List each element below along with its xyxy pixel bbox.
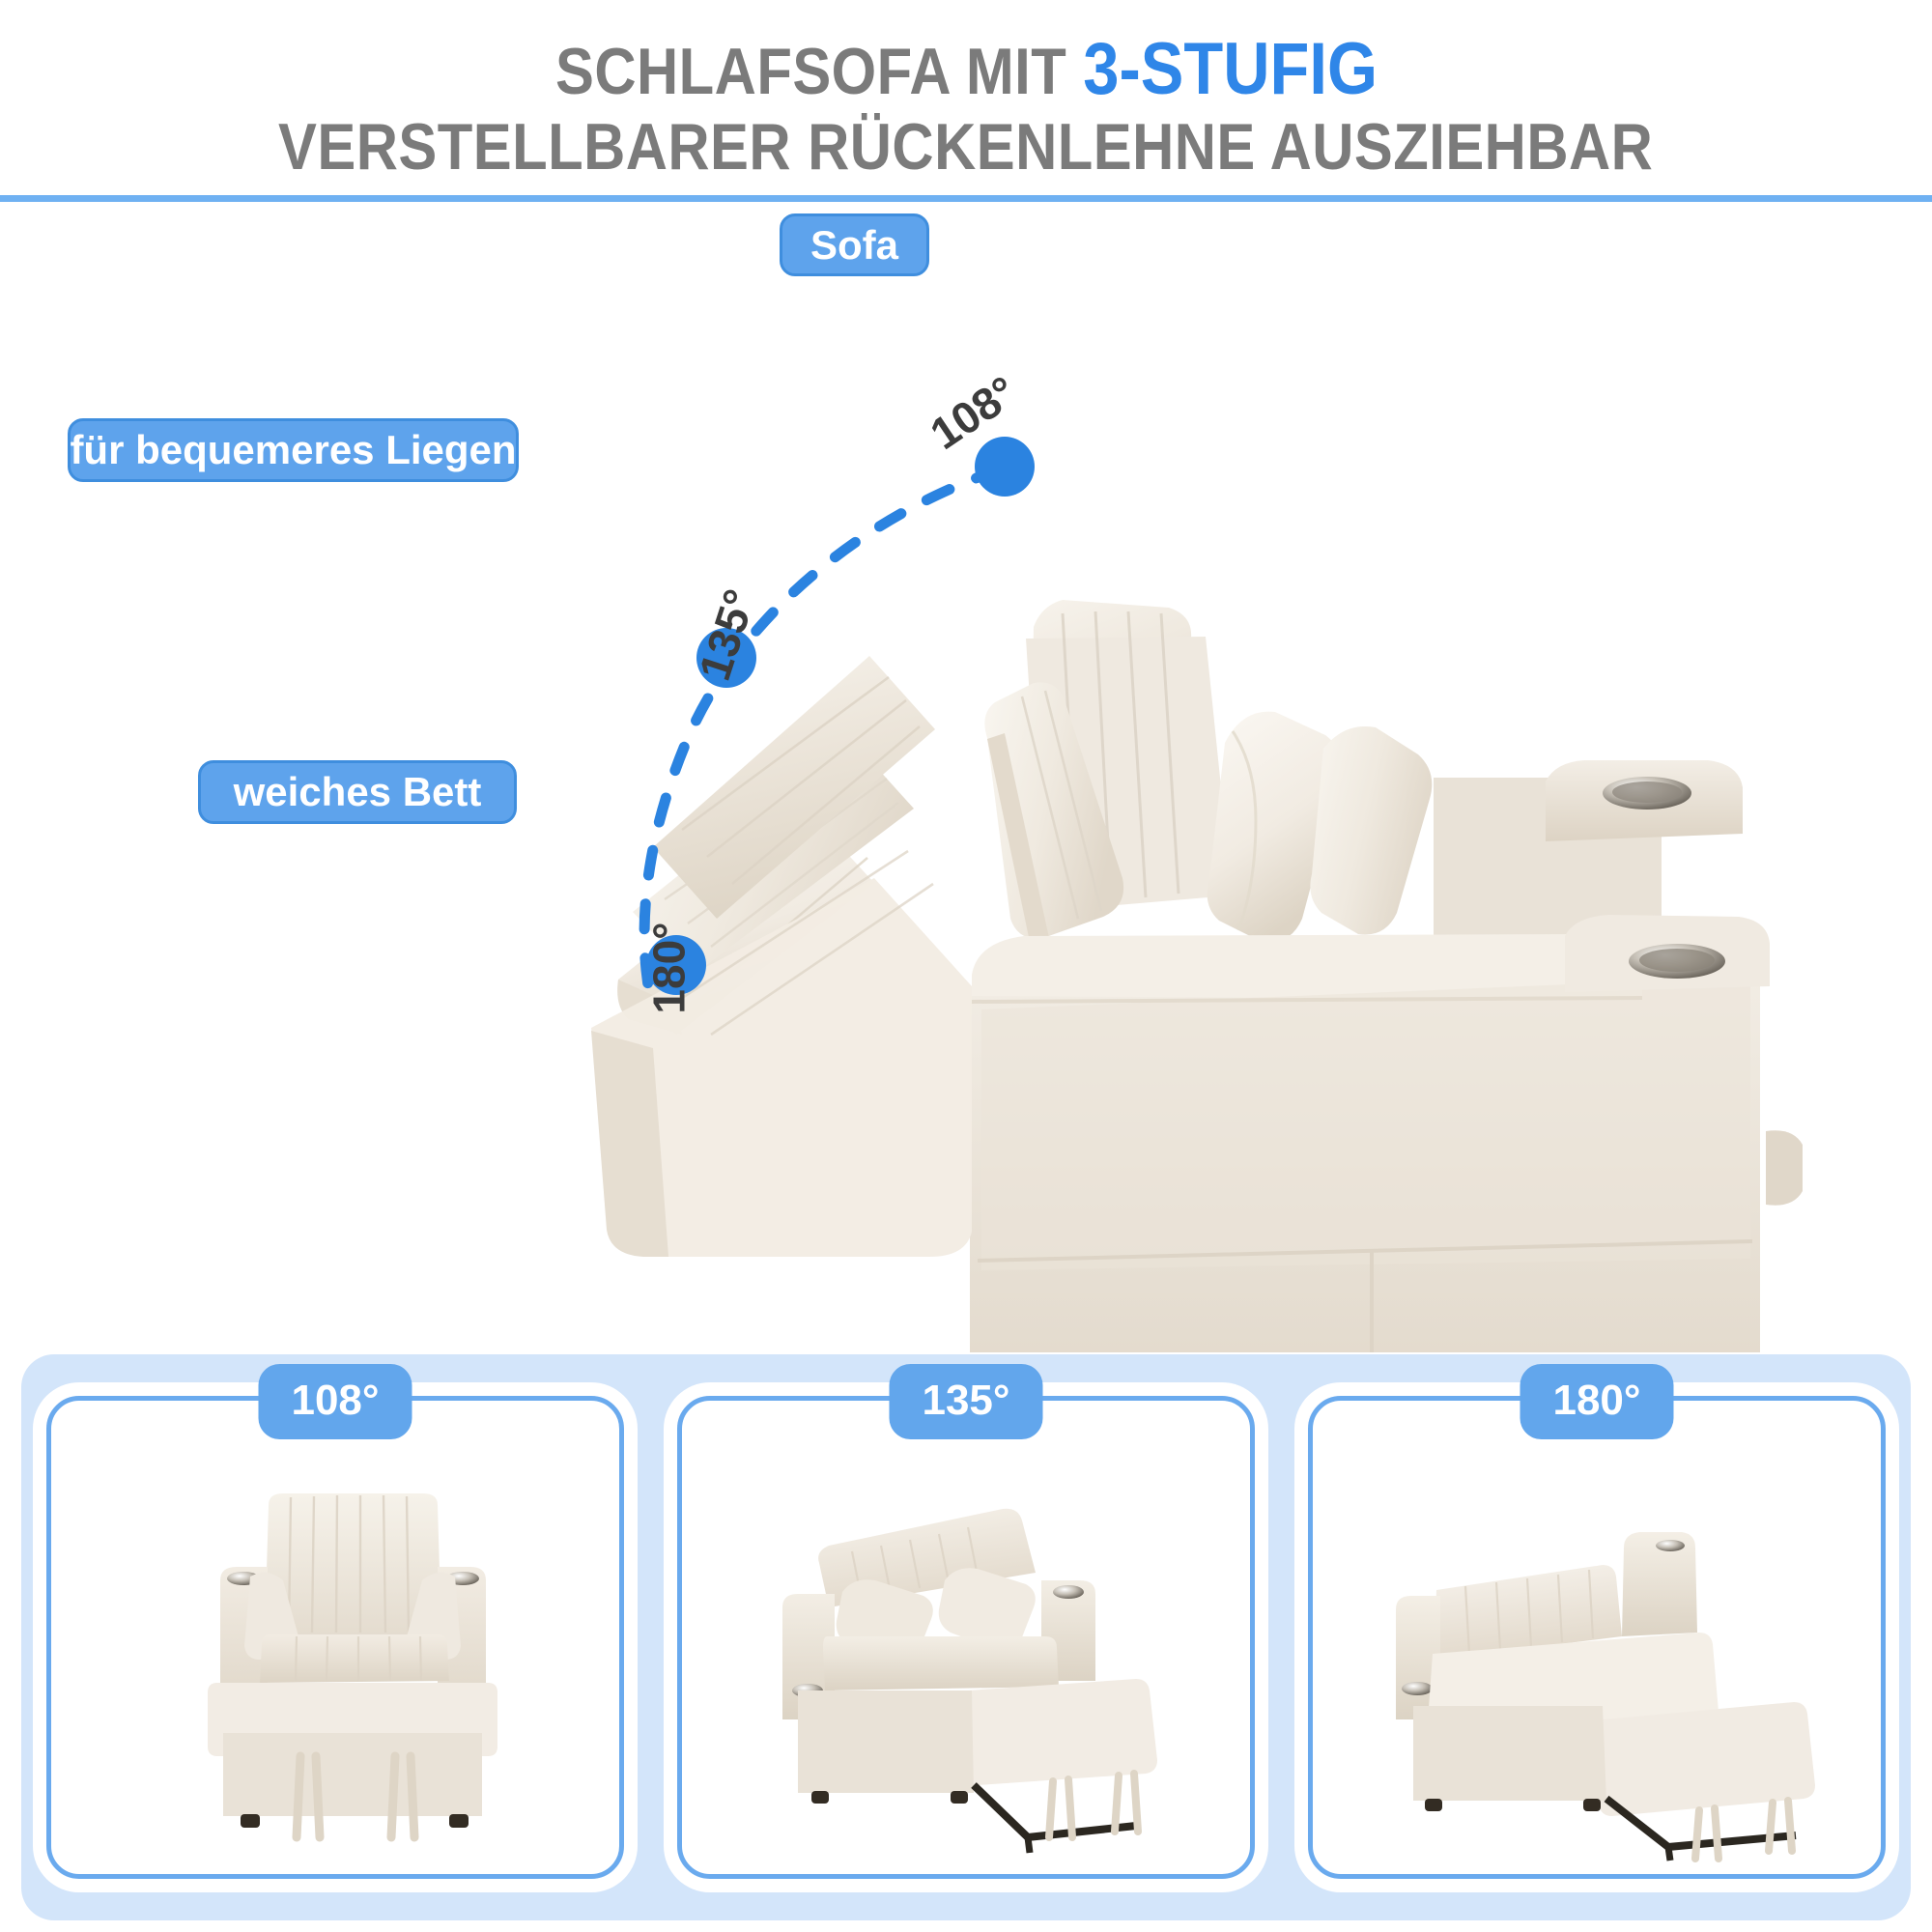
label-soft-bed: weiches Bett — [198, 760, 517, 824]
thumbnail-card-108[interactable]: 108° — [46, 1396, 624, 1879]
label-comfort-lying: für bequemeres Liegen — [68, 418, 519, 482]
thumbnail-image-135 — [682, 1401, 1250, 1874]
thumbnail-card-180[interactable]: 180° — [1308, 1396, 1886, 1879]
arc-dot-108 — [975, 437, 1035, 497]
label-sofa: Sofa — [780, 213, 929, 276]
main-diagram: 108° 135° 180° Sofa für bequemeres Liege… — [0, 202, 1932, 1352]
sofa-flat-bed-180 — [1313, 1401, 1881, 1874]
product-infographic: SCHLAFSOFA MIT 3-STUFIG VERSTELLBARER RÜ… — [0, 0, 1932, 1932]
thumbnail-panel: 108° — [21, 1354, 1911, 1920]
thumbnail-image-180 — [1313, 1401, 1881, 1874]
header-divider — [0, 195, 1932, 202]
thumbnail-card-135[interactable]: 135° — [677, 1396, 1255, 1879]
thumbnail-badge-180: 180° — [1520, 1364, 1673, 1439]
title-text-accent: 3-STUFIG — [1083, 28, 1378, 110]
arc-dashed-path — [644, 469, 1000, 1002]
page-title-line-2: VERSTELLBARER RÜCKENLEHNE AUSZIEHBAR — [278, 110, 1653, 184]
sofa-front-upright — [51, 1401, 619, 1874]
title-text-main: SCHLAFSOFA MIT — [555, 35, 1066, 108]
page-title-line-1: SCHLAFSOFA MIT 3-STUFIG — [555, 28, 1378, 110]
thumbnail-image-108 — [51, 1401, 619, 1874]
angle-label-180: 180° — [647, 922, 692, 1013]
sofa-reclined-135 — [682, 1401, 1250, 1874]
header: SCHLAFSOFA MIT 3-STUFIG VERSTELLBARER RÜ… — [0, 0, 1932, 198]
thumbnail-badge-108: 108° — [258, 1364, 412, 1439]
thumbnail-badge-135: 135° — [889, 1364, 1042, 1439]
